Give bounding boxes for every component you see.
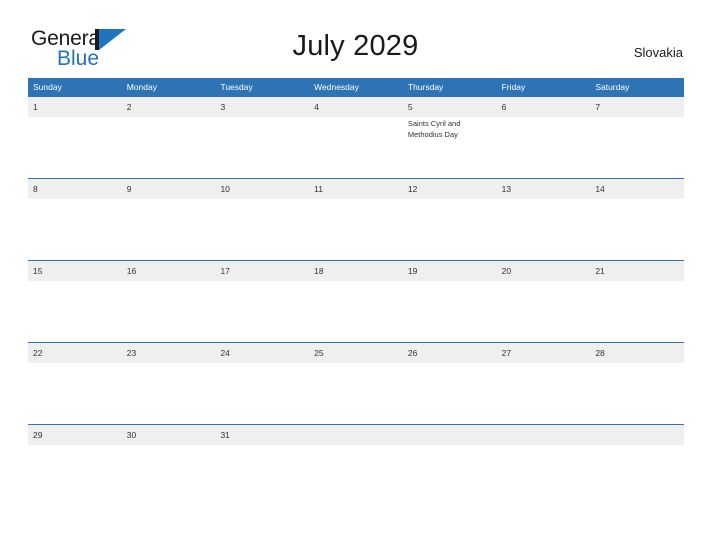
calendar-day-cell[interactable]: 23 [122, 343, 216, 424]
day-number [502, 425, 587, 445]
logo-text-blue: Blue [57, 48, 141, 70]
calendar-day-cell[interactable]: 16 [122, 261, 216, 342]
day-number: 7 [595, 97, 680, 117]
calendar-day-cell[interactable]: 20 [497, 261, 591, 342]
calendar-day-cell[interactable]: 25 [309, 343, 403, 424]
day-number: 21 [595, 261, 680, 281]
calendar-day-cell[interactable]: 9 [122, 179, 216, 260]
day-number: 11 [314, 179, 399, 199]
calendar-day-cell[interactable]: 7 [590, 97, 684, 178]
day-number: 6 [502, 97, 587, 117]
day-number: 30 [127, 425, 212, 445]
calendar-week-row: 293031 [28, 424, 684, 506]
day-number: 22 [33, 343, 118, 363]
calendar-week-row: 22232425262728 [28, 342, 684, 424]
day-number [314, 425, 399, 445]
day-number [595, 425, 680, 445]
day-number: 18 [314, 261, 399, 281]
calendar-week-row: 12345Saints Cyril and Methodius Day67 [28, 97, 684, 178]
calendar-day-cell[interactable]: 17 [215, 261, 309, 342]
calendar-week-row: 891011121314 [28, 178, 684, 260]
calendar-week-row: 15161718192021 [28, 260, 684, 342]
country-label: Slovakia [634, 45, 683, 60]
day-number: 3 [220, 97, 305, 117]
day-number: 20 [502, 261, 587, 281]
day-number: 19 [408, 261, 493, 281]
calendar-day-cell[interactable]: 1 [28, 97, 122, 178]
weekday-header-monday: Monday [122, 78, 216, 97]
calendar-day-cell-empty [403, 425, 497, 506]
day-number: 28 [595, 343, 680, 363]
generalblue-logo[interactable]: General Blue [31, 28, 141, 70]
weekday-header-wednesday: Wednesday [309, 78, 403, 97]
day-events: Saints Cyril and Methodius Day [408, 117, 493, 140]
day-number: 2 [127, 97, 212, 117]
weekday-header-sunday: Sunday [28, 78, 122, 97]
day-number: 8 [33, 179, 118, 199]
day-number: 15 [33, 261, 118, 281]
calendar-day-cell-empty [309, 425, 403, 506]
day-number: 16 [127, 261, 212, 281]
day-number: 25 [314, 343, 399, 363]
weekday-header-thursday: Thursday [403, 78, 497, 97]
calendar-day-cell[interactable]: 28 [590, 343, 684, 424]
day-number: 17 [220, 261, 305, 281]
calendar-day-cell-empty [590, 425, 684, 506]
holiday-event: Saints Cyril and Methodius Day [408, 119, 493, 140]
calendar-day-cell[interactable]: 26 [403, 343, 497, 424]
calendar-day-cell[interactable]: 14 [590, 179, 684, 260]
day-number: 10 [220, 179, 305, 199]
calendar-day-cell[interactable]: 2 [122, 97, 216, 178]
calendar-day-cell[interactable]: 27 [497, 343, 591, 424]
day-number: 9 [127, 179, 212, 199]
day-number: 4 [314, 97, 399, 117]
calendar-day-cell[interactable]: 21 [590, 261, 684, 342]
calendar-weeks: 12345Saints Cyril and Methodius Day67891… [28, 97, 684, 506]
logo-triangle-shape [99, 29, 126, 50]
calendar-day-cell[interactable]: 11 [309, 179, 403, 260]
calendar-day-cell[interactable]: 12 [403, 179, 497, 260]
weekday-header-tuesday: Tuesday [215, 78, 309, 97]
day-number: 29 [33, 425, 118, 445]
calendar-grid: SundayMondayTuesdayWednesdayThursdayFrid… [28, 78, 684, 506]
day-number: 13 [502, 179, 587, 199]
day-number: 26 [408, 343, 493, 363]
calendar-day-cell[interactable]: 22 [28, 343, 122, 424]
calendar-day-cell[interactable]: 5Saints Cyril and Methodius Day [403, 97, 497, 178]
triangle-logo-icon [95, 29, 126, 50]
day-number [408, 425, 493, 445]
calendar-day-cell[interactable]: 8 [28, 179, 122, 260]
calendar-day-cell[interactable]: 15 [28, 261, 122, 342]
day-number: 31 [220, 425, 305, 445]
weekday-header-row: SundayMondayTuesdayWednesdayThursdayFrid… [28, 78, 684, 97]
calendar-day-cell[interactable]: 13 [497, 179, 591, 260]
calendar-day-cell[interactable]: 18 [309, 261, 403, 342]
day-number: 5 [408, 97, 493, 117]
day-number: 1 [33, 97, 118, 117]
calendar-day-cell[interactable]: 4 [309, 97, 403, 178]
calendar-day-cell[interactable]: 3 [215, 97, 309, 178]
calendar-day-cell-empty [497, 425, 591, 506]
calendar-day-cell[interactable]: 19 [403, 261, 497, 342]
calendar-day-cell[interactable]: 29 [28, 425, 122, 506]
calendar-day-cell[interactable]: 6 [497, 97, 591, 178]
calendar-day-cell[interactable]: 31 [215, 425, 309, 506]
day-number: 23 [127, 343, 212, 363]
calendar-day-cell[interactable]: 24 [215, 343, 309, 424]
day-number: 27 [502, 343, 587, 363]
calendar-day-cell[interactable]: 30 [122, 425, 216, 506]
page-header: General Blue July 2029 Slovakia [0, 0, 712, 52]
calendar-day-cell[interactable]: 10 [215, 179, 309, 260]
weekday-header-friday: Friday [497, 78, 591, 97]
day-number: 24 [220, 343, 305, 363]
day-number: 12 [408, 179, 493, 199]
day-number: 14 [595, 179, 680, 199]
weekday-header-saturday: Saturday [590, 78, 684, 97]
